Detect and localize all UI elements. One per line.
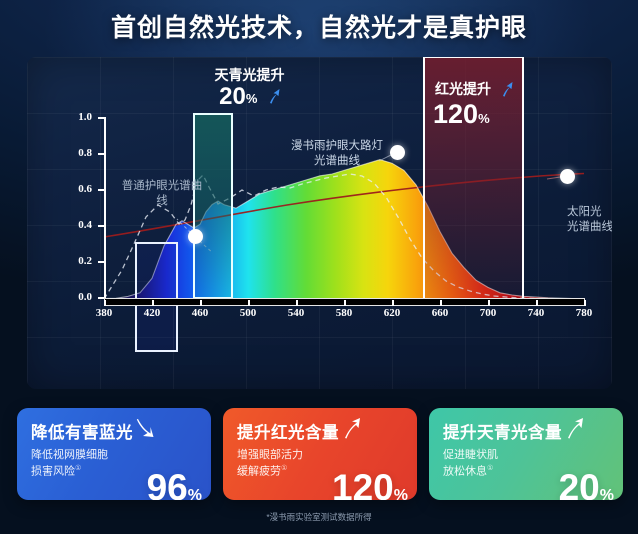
x-tick: [200, 300, 202, 306]
card-footnote-marker: ①: [75, 465, 81, 472]
spectrum-curves: [27, 57, 612, 389]
card-title-row: 提升红光含量: [237, 417, 405, 444]
red-badge-value: 120: [433, 99, 478, 129]
callout-sun-curve: 太阳光 光谱曲线: [567, 205, 612, 235]
y-tick: [98, 261, 106, 263]
y-tick-label: 0.8: [60, 147, 92, 159]
x-tick-label: 380: [84, 307, 124, 319]
card-reduce-blue-light[interactable]: 降低有害蓝光 降低视网膜细胞 损害风险① 96%: [17, 408, 211, 500]
x-tick-label: 700: [468, 307, 508, 319]
card-subtitle-line1: 降低视网膜细胞: [31, 448, 199, 464]
cyan-badge-value-row: 20%: [187, 83, 312, 111]
x-tick-label: 740: [516, 307, 556, 319]
card-unit: %: [394, 487, 408, 500]
arrow-up-icon: [564, 417, 584, 444]
red-badge-unit: %: [478, 111, 490, 126]
cyan-badge-value: 20: [219, 83, 246, 110]
card-title: 提升天青光含量: [443, 419, 562, 443]
arrow-down-icon: [135, 417, 155, 444]
card-boost-red-light[interactable]: 提升红光含量 增强眼部活力 缓解疲劳① 120%: [223, 408, 417, 500]
marker-dot-normal-curve: [188, 229, 203, 244]
card-value-row: 96%: [147, 469, 202, 500]
card-value: 120: [332, 467, 394, 500]
card-title-row: 降低有害蓝光: [31, 417, 199, 444]
y-tick-label: 0.4: [60, 219, 92, 231]
x-tick-label: 780: [564, 307, 604, 319]
callout-sun-curve-line1: 太阳光: [567, 205, 612, 220]
chart-plot-area: 1.0 0.8 0.6 0.4 0.2 0.0 380 420 460 500 …: [27, 57, 612, 389]
x-tick: [584, 300, 586, 306]
x-tick: [392, 300, 394, 306]
y-axis-line: [104, 117, 106, 299]
card-footnote-marker: ①: [487, 465, 493, 472]
callout-brand-curve: 漫书雨护眼大路灯 光谱曲线: [277, 139, 397, 169]
promo-page: 首创自然光技术，自然光才是真护眼: [0, 0, 638, 534]
x-tick-label: 540: [276, 307, 316, 319]
card-unit: %: [600, 487, 614, 500]
cyan-badge-unit: %: [246, 91, 258, 106]
card-subtitle-line2: 放松休息: [443, 466, 487, 478]
card-boost-cyan-light[interactable]: 提升天青光含量 促进睫状肌 放松休息① 20%: [429, 408, 623, 500]
callout-brand-curve-line2: 光谱曲线: [277, 154, 397, 169]
y-tick-label: 0.6: [60, 183, 92, 195]
x-tick: [440, 300, 442, 306]
y-tick: [98, 153, 106, 155]
x-tick-label: 460: [180, 307, 220, 319]
arrow-up-icon: [341, 417, 361, 444]
x-tick: [488, 300, 490, 306]
page-title: 首创自然光技术，自然光才是真护眼: [0, 8, 638, 44]
red-badge-value-row: 120%: [433, 99, 490, 130]
card-subtitle-line1: 促进睫状肌: [443, 448, 611, 464]
y-tick-label: 1.0: [60, 111, 92, 123]
y-tick: [98, 225, 106, 227]
card-unit: %: [188, 487, 202, 500]
x-tick: [296, 300, 298, 306]
card-value-row: 120%: [332, 469, 408, 500]
card-value: 96: [147, 467, 188, 500]
cyan-badge-title: 天青光提升: [187, 65, 312, 85]
x-tick-label: 580: [324, 307, 364, 319]
x-tick-label: 420: [132, 307, 172, 319]
y-tick: [98, 189, 106, 191]
footnote: *漫书雨实验室测试数据所得: [0, 511, 638, 523]
card-value-row: 20%: [559, 469, 614, 500]
card-title-row: 提升天青光含量: [443, 417, 611, 444]
spectrum-chart-panel: 1.0 0.8 0.6 0.4 0.2 0.0 380 420 460 500 …: [27, 57, 612, 389]
card-title: 降低有害蓝光: [31, 419, 133, 443]
x-tick-label: 660: [420, 307, 460, 319]
arrow-up-icon: [500, 81, 513, 100]
x-tick: [344, 300, 346, 306]
red-badge-title: 红光提升: [435, 81, 491, 97]
x-tick-label: 620: [372, 307, 412, 319]
card-subtitle-line2: 损害风险: [31, 466, 75, 478]
x-tick: [104, 300, 106, 306]
x-tick: [152, 300, 154, 306]
x-tick-label: 500: [228, 307, 268, 319]
card-title: 提升红光含量: [237, 419, 339, 443]
benefit-cards: 降低有害蓝光 降低视网膜细胞 损害风险① 96% 提升红光含量 增强眼: [17, 408, 623, 500]
red-badge-row: 红光提升: [435, 79, 513, 100]
marker-dot-sun-curve: [560, 169, 575, 184]
card-value: 20: [559, 467, 600, 500]
y-tick-label: 0.0: [60, 291, 92, 303]
highlight-box-blue-light: [135, 242, 178, 352]
card-subtitle-line1: 增强眼部活力: [237, 448, 405, 464]
x-tick: [536, 300, 538, 306]
callout-brand-curve-line1: 漫书雨护眼大路灯: [277, 139, 397, 154]
y-tick-label: 0.2: [60, 255, 92, 267]
arrow-up-icon: [267, 88, 280, 109]
x-tick: [248, 300, 250, 306]
callout-normal-curve: 普通护眼光谱曲线: [119, 179, 205, 209]
callout-sun-curve-line2: 光谱曲线: [567, 220, 612, 235]
card-footnote-marker: ①: [281, 465, 287, 472]
card-subtitle-line2: 缓解疲劳: [237, 466, 281, 478]
y-tick: [98, 117, 106, 119]
callout-normal-curve-label: 普通护眼光谱曲线: [119, 179, 205, 209]
